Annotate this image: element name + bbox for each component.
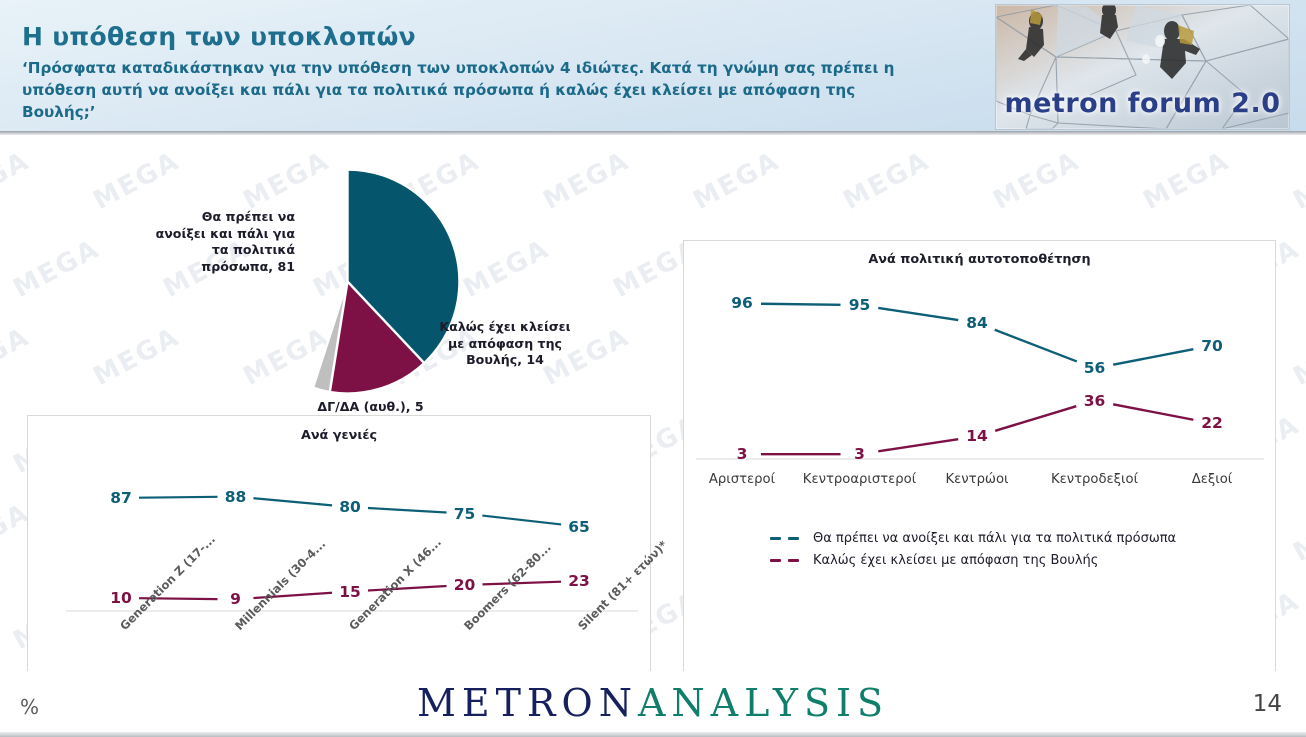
pie-chart-svg bbox=[235, 169, 460, 394]
data-point-label: 10 bbox=[110, 589, 132, 607]
logo-analysis: ANALYSIS bbox=[638, 681, 889, 725]
data-point-label: 23 bbox=[568, 572, 590, 590]
slide-body: Θα πρέπει να ανοίξει και πάλι για τα πολ… bbox=[0, 139, 1306, 672]
plot-area-political: 969584567033143622ΑριστεροίΚεντροαριστερ… bbox=[684, 241, 1275, 680]
logo-label: metron forum 2.0 bbox=[996, 88, 1289, 119]
series-line-segment bbox=[878, 439, 958, 451]
slide-header: Η υπόθεση των υποκλοπών ‘Πρόσφατα καταδι… bbox=[0, 0, 1306, 135]
logo-metron: METRON bbox=[417, 681, 638, 725]
chart-legend: Θα πρέπει να ανοίξει και πάλι για τα πολ… bbox=[770, 531, 1176, 575]
data-point-label: 87 bbox=[110, 489, 132, 507]
x-axis-tick-label: Αριστεροί bbox=[709, 472, 775, 487]
metron-analysis-logo: METRONANALYSIS bbox=[0, 681, 1306, 725]
series-line-segment bbox=[139, 497, 218, 498]
slide-footer: % METRONANALYSIS 14 bbox=[0, 671, 1306, 737]
pie-chart: Θα πρέπει να ανοίξει και πάλι για τα πολ… bbox=[150, 174, 570, 424]
data-point-label: 88 bbox=[225, 488, 247, 506]
series-line-segment bbox=[253, 498, 332, 505]
series-line-segment bbox=[368, 508, 447, 512]
page-subtitle: ‘Πρόσφατα καταδικάστηκαν για την υπόθεση… bbox=[22, 57, 932, 123]
data-point-label: 95 bbox=[849, 296, 871, 314]
data-point-label: 65 bbox=[568, 518, 590, 536]
series-line-segment bbox=[1113, 349, 1193, 364]
legend-label: Καλώς έχει κλείσει με απόφαση της Βουλής bbox=[813, 553, 1098, 568]
x-axis-tick-label: Κεντρώοι bbox=[945, 472, 1008, 487]
pie-label-dk: ΔΓ/ΔΑ (αυθ.), 5 bbox=[278, 399, 463, 416]
data-point-label: 20 bbox=[454, 576, 476, 594]
series-line-segment bbox=[482, 516, 561, 525]
page-number: 14 bbox=[1253, 691, 1282, 717]
line-chart-svg bbox=[684, 241, 1275, 680]
data-point-label: 96 bbox=[731, 294, 753, 312]
data-point-label: 80 bbox=[339, 498, 361, 516]
data-point-label: 56 bbox=[1084, 359, 1106, 377]
x-axis-tick-label: Κεντροαριστεροί bbox=[803, 472, 916, 487]
slide: MEGAMEGAMEGAMEGAMEGAMEGAMEGAMEGAMEGAMEGA… bbox=[0, 0, 1306, 737]
legend-label: Θα πρέπει να ανοίξει και πάλι για τα πολ… bbox=[813, 531, 1176, 546]
data-point-label: 3 bbox=[854, 445, 865, 463]
x-axis-tick-label: Δεξιοί bbox=[1192, 472, 1233, 487]
data-point-label: 22 bbox=[1201, 414, 1223, 432]
data-point-label: 84 bbox=[966, 314, 988, 332]
chart-panel-political: Ανά πολιτική αυτοτοποθέτηση 969584567033… bbox=[683, 240, 1276, 681]
data-point-label: 9 bbox=[230, 590, 241, 608]
data-point-label: 3 bbox=[737, 445, 748, 463]
legend-item[interactable]: Θα πρέπει να ανοίξει και πάλι για τα πολ… bbox=[770, 531, 1176, 546]
legend-item[interactable]: Καλώς έχει κλείσει με απόφαση της Βουλής bbox=[770, 553, 1176, 568]
data-point-label: 15 bbox=[339, 583, 361, 601]
data-point-label: 36 bbox=[1084, 392, 1106, 410]
data-point-label: 75 bbox=[454, 505, 476, 523]
pie-label-open: Θα πρέπει να ανοίξει και πάλι για τα πολ… bbox=[150, 209, 295, 276]
metron-forum-logo: metron forum 2.0 bbox=[995, 4, 1290, 130]
series-line-segment bbox=[995, 406, 1076, 431]
series-line-segment bbox=[995, 330, 1077, 362]
page-title: Η υπόθεση των υποκλοπών bbox=[22, 22, 416, 51]
data-point-label: 14 bbox=[966, 427, 988, 445]
x-axis-tick-label: Κεντροδεξιοί bbox=[1051, 472, 1138, 487]
data-point-label: 70 bbox=[1201, 337, 1223, 355]
pie-label-closed: Καλώς έχει κλείσει με απόφαση της Βουλής… bbox=[435, 319, 575, 369]
series-line-segment bbox=[761, 304, 841, 305]
series-line-segment bbox=[878, 308, 958, 320]
series-line-segment bbox=[1113, 404, 1193, 419]
